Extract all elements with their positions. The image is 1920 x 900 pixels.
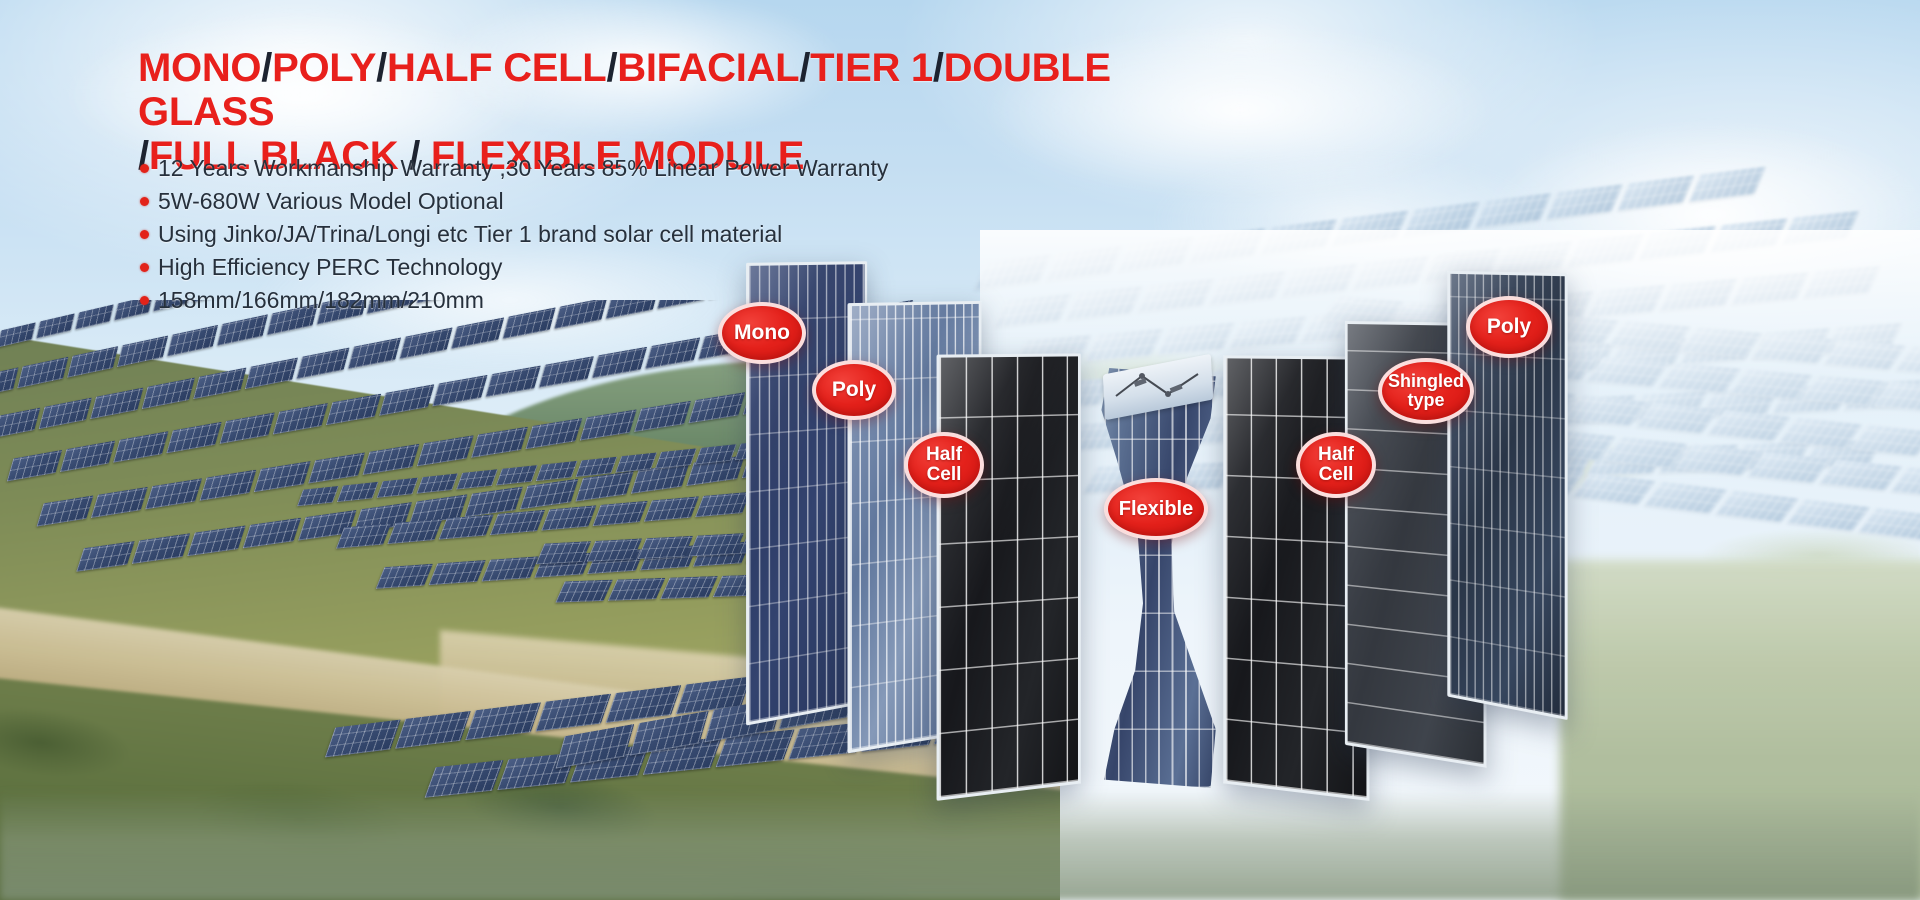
hillside-panel: [645, 337, 701, 369]
headline-separator: /: [261, 46, 272, 90]
hillside-panel: [36, 313, 75, 338]
hillside-panel: [432, 375, 488, 407]
module-flexible[interactable]: [1098, 368, 1214, 788]
badge-half-cell-right[interactable]: Half Cell: [1296, 432, 1376, 498]
hillside-panel: [296, 347, 349, 379]
hillside-panel: [485, 365, 541, 397]
badge-label: Flexible: [1119, 499, 1193, 520]
badge-label: Poly: [1487, 316, 1531, 338]
headline-separator: /: [799, 46, 810, 90]
hillside-panel: [637, 536, 693, 559]
hillside-panel: [217, 314, 268, 346]
badge-label-line2: Cell: [1318, 465, 1354, 485]
feature-list-item-label: Using Jinko/JA/Trina/Longi etc Tier 1 br…: [158, 218, 782, 251]
banner-stage: Mono Poly Half Cell Flexible Half Cell S…: [0, 0, 1920, 900]
badge-flexible[interactable]: Flexible: [1104, 478, 1208, 540]
bullet-dot-icon: [140, 230, 149, 239]
hillside-panel: [75, 304, 114, 329]
feature-list-item: 12 Years Workmanship Warranty ,30 Years …: [140, 152, 1020, 185]
module-cells: [1091, 368, 1221, 788]
feature-list-item-label: High Efficiency PERC Technology: [158, 251, 502, 284]
headline-word: HALF CELL: [387, 46, 607, 90]
feature-list-item-label: 12 Years Workmanship Warranty ,30 Years …: [158, 152, 888, 185]
feature-list-item-label: 5W-680W Various Model Optional: [158, 185, 504, 218]
badge-label: Poly: [832, 379, 876, 401]
hillside-panel: [608, 578, 666, 601]
glass-gloss: [940, 356, 1078, 797]
feature-list-item: 158mm/166mm/182mm/210mm: [140, 284, 1020, 317]
hillside-panel: [586, 538, 642, 561]
hillside-panel: [376, 564, 433, 589]
badge-label: Mono: [734, 322, 790, 344]
bullet-dot-icon: [140, 197, 149, 206]
feature-list-item-label: 158mm/166mm/182mm/210mm: [158, 284, 484, 317]
headline-separator: /: [933, 46, 944, 90]
headline-word: TIER 1: [810, 46, 933, 90]
badge-label-line1: Half: [926, 445, 962, 465]
headline-line-1: MONO/POLY/HALF CELL/BIFACIAL/TIER 1/DOUB…: [138, 46, 1198, 134]
junction-wires-icon: [1112, 370, 1204, 402]
badge-label-line2: type: [1388, 391, 1464, 410]
feature-list: 12 Years Workmanship Warranty ,30 Years …: [140, 152, 1020, 317]
hillside-panel: [451, 317, 504, 349]
hillside-panel: [481, 556, 538, 581]
badge-label-line2: Cell: [926, 465, 962, 485]
hillside-panel: [536, 541, 592, 564]
headline-separator: /: [606, 46, 617, 90]
hillside-panel: [167, 325, 218, 357]
headline-separator: /: [376, 46, 387, 90]
badge-label-line1: Half: [1318, 445, 1354, 465]
module-showcase: Mono Poly Half Cell Flexible Half Cell S…: [700, 250, 1920, 900]
bullet-dot-icon: [140, 263, 149, 272]
module-half-cell-left[interactable]: [937, 353, 1081, 800]
feature-list-item: 5W-680W Various Model Optional: [140, 185, 1020, 218]
badge-poly-front[interactable]: Poly: [812, 360, 896, 420]
module-cells: [940, 356, 1078, 797]
hillside-panel: [538, 356, 594, 388]
bullet-dot-icon: [140, 164, 149, 173]
feature-list-item: High Efficiency PERC Technology: [140, 251, 1020, 284]
bullet-dot-icon: [140, 296, 149, 305]
badge-poly-right[interactable]: Poly: [1466, 296, 1552, 358]
hillside-panel: [399, 327, 452, 359]
badge-half-cell-left[interactable]: Half Cell: [904, 432, 984, 498]
hillside-panel: [348, 337, 401, 369]
badge-shingled-type[interactable]: Shingled type: [1378, 358, 1474, 424]
headline-word: POLY: [272, 46, 376, 90]
headline-word: MONO: [138, 46, 261, 90]
badge-mono[interactable]: Mono: [718, 302, 806, 364]
headline-word: BIFACIAL: [617, 46, 799, 90]
hillside-panel: [428, 560, 485, 585]
hillside-panel: [592, 347, 648, 379]
feature-list-item: Using Jinko/JA/Trina/Longi etc Tier 1 br…: [140, 218, 1020, 251]
hillside-panel: [555, 580, 613, 603]
badge-label-line1: Shingled: [1388, 372, 1464, 391]
